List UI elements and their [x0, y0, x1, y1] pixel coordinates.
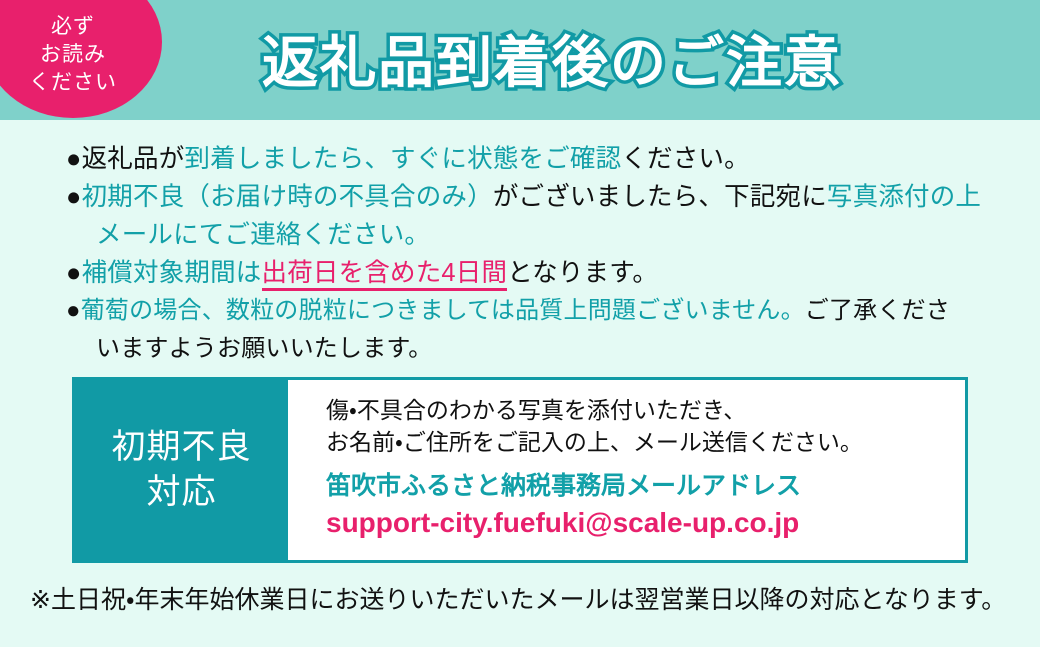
notice-text-segment: 写真添付の上	[827, 183, 981, 211]
must-read-badge: 必ず お読み ください	[0, 0, 162, 118]
page-title: 返礼品到着後のご注意	[262, 18, 842, 99]
contact-details: 傷・不具合のわかる写真を添付いただき、 お名前・ご住所をご記入の上、メール送信く…	[288, 380, 965, 560]
notice-line: ●初期不良（お届け時の不具合のみ）がございましたら、下記宛に写真添付の上	[66, 178, 1026, 216]
mail-address-label: 笛吹市ふるさと納税事務局メールアドレス	[326, 469, 965, 503]
footer-note: ※土日祝・年末年始休業日にお送りいただいたメールは翌営業日以降の対応となります。	[30, 583, 1006, 617]
initial-defect-label-line-1: 初期不良	[112, 425, 252, 470]
notice-list: ●返礼品が到着しましたら、すぐに状態をご確認ください。●初期不良（お届け時の不具…	[66, 140, 1026, 368]
instruction-line-2: お名前・ご住所をご記入の上、メール送信ください。	[326, 426, 965, 458]
bullet-icon: ●	[66, 145, 82, 173]
notice-text-segment: 出荷日を含めた4日間	[262, 259, 508, 291]
header-band: 必ず お読み ください 返礼品到着後のご注意	[0, 0, 1040, 120]
notice-text-segment: 初期不良（お届け時の不具合のみ）	[82, 183, 493, 211]
support-email-address[interactable]: support-city.fuefuki@scale-up.co.jp	[326, 505, 965, 541]
notice-text-segment: ください。	[621, 145, 750, 173]
instruction-line-1: 傷・不具合のわかる写真を添付いただき、	[326, 394, 965, 426]
notice-text-segment: ご了承くださ	[805, 297, 950, 324]
initial-defect-label-line-2: 対応	[147, 470, 217, 515]
initial-defect-contact-box: 初期不良 対応 傷・不具合のわかる写真を添付いただき、 お名前・ご住所をご記入の…	[72, 377, 968, 563]
bullet-icon: ●	[66, 183, 82, 211]
notice-line: ●返礼品が到着しましたら、すぐに状態をご確認ください。	[66, 140, 1026, 178]
notice-line: いますようお願いいたします。	[66, 330, 1026, 368]
notice-text-segment: となります。	[507, 259, 658, 287]
initial-defect-label: 初期不良 対応	[75, 380, 288, 560]
notice-text-segment: 到着しましたら、すぐに状態をご確認	[184, 145, 621, 173]
notice-line: ●補償対象期間は出荷日を含めた4日間となります。	[66, 254, 1026, 292]
notice-text-segment: 補償対象期間は	[82, 259, 262, 287]
notice-line: ●葡萄の場合、数粒の脱粒につきましては品質上問題ございません。ご了承くださ	[66, 292, 1026, 330]
badge-line-1: 必ず	[51, 13, 95, 41]
notice-text-segment: がございましたら、下記宛に	[493, 183, 827, 211]
notice-text-segment: 葡萄の場合、数粒の脱粒につきましては品質上問題ございません。	[81, 297, 805, 324]
notice-text-segment: いますようお願いいたします。	[96, 335, 432, 362]
bullet-icon: ●	[66, 259, 82, 287]
badge-line-2: お読み	[40, 41, 106, 69]
notice-text-segment: メールにてご連絡ください。	[96, 221, 430, 249]
notice-line: メールにてご連絡ください。	[66, 216, 1026, 254]
bullet-icon: ●	[66, 297, 81, 324]
badge-line-3: ください	[29, 69, 117, 97]
notice-text-segment: 返礼品が	[82, 145, 185, 173]
